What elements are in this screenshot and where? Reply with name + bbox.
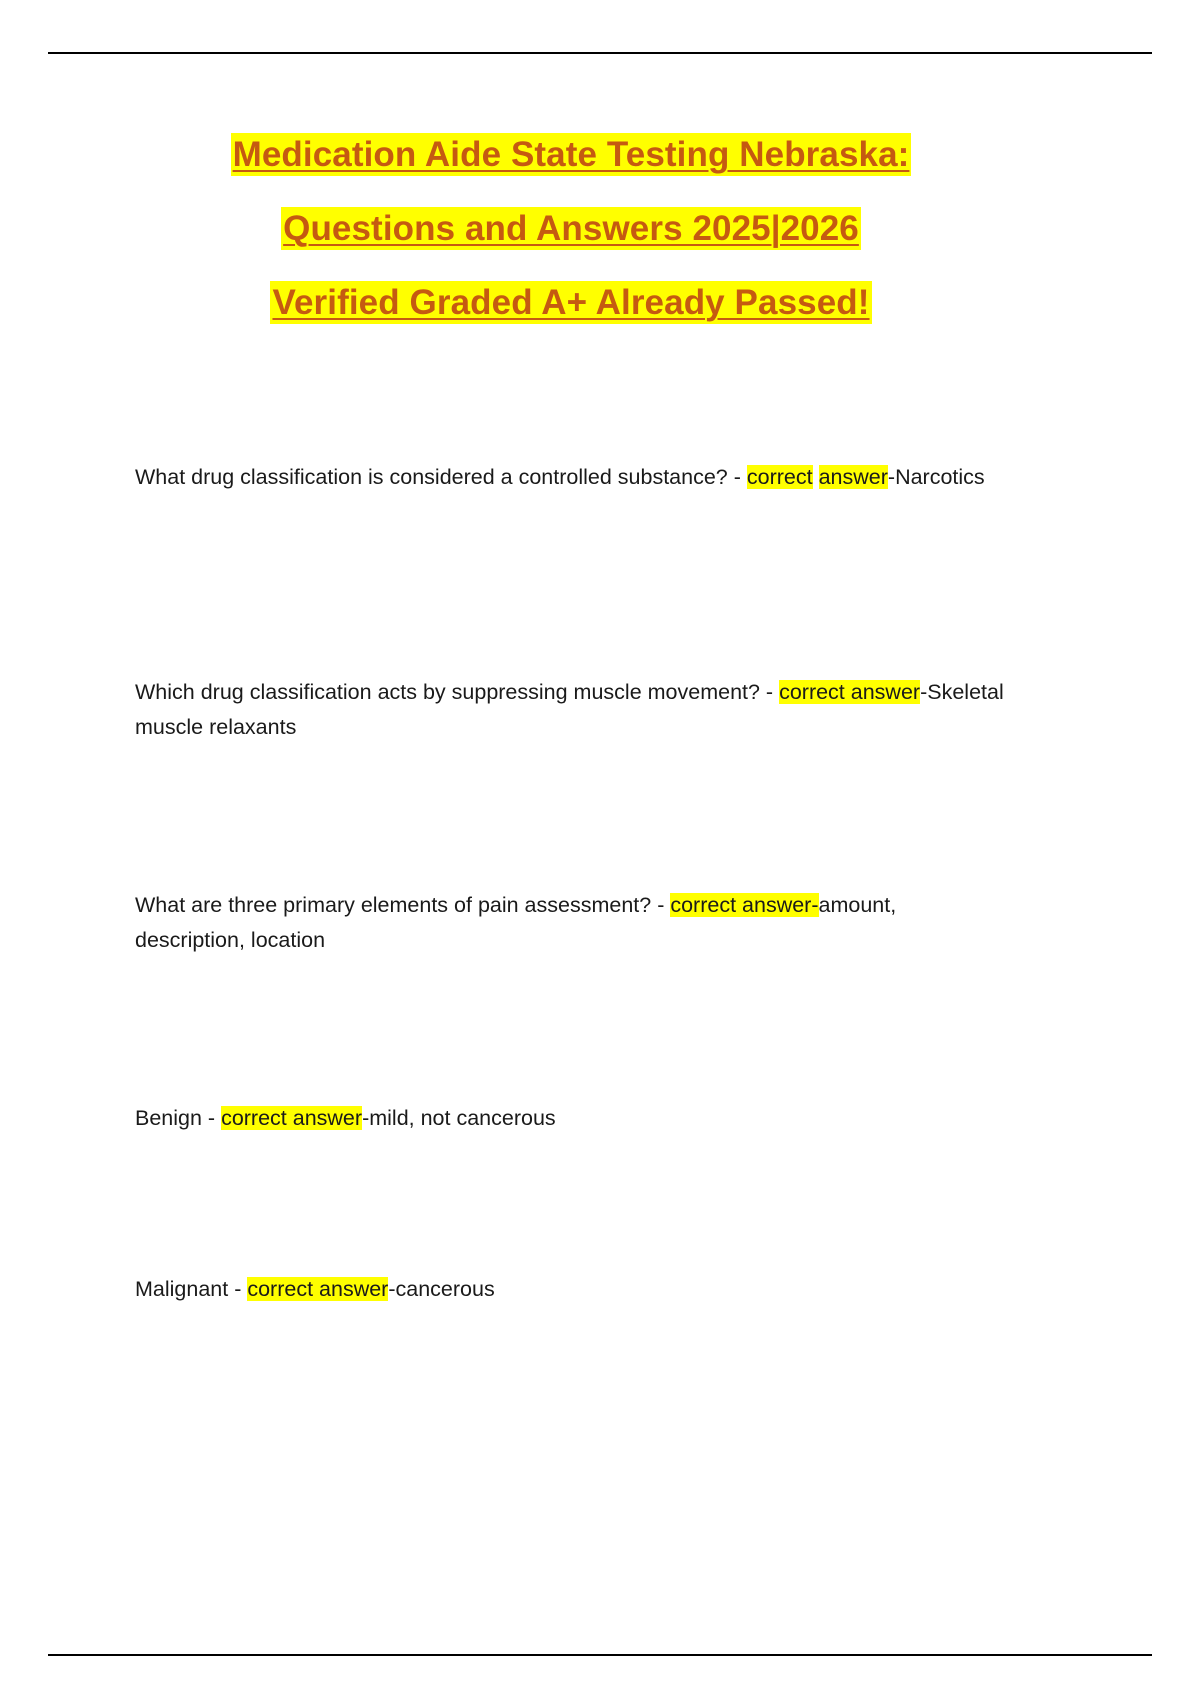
question-text: Malignant - <box>135 1277 247 1301</box>
title-line-1: Medication Aide State Testing Nebraska: <box>135 118 1007 192</box>
qa-item: Benign - correct answer-mild, not cancer… <box>135 1101 1010 1136</box>
title-line-2: Questions and Answers 2025|2026 <box>135 192 1007 266</box>
answer-marker: correct answer- <box>670 893 818 917</box>
document-content: Medication Aide State Testing Nebraska: … <box>135 118 1007 340</box>
question-text: What are three primary elements of pain … <box>135 893 670 917</box>
page-top-rule <box>48 52 1152 54</box>
answer-text: Narcotics <box>895 465 985 489</box>
page-title: Medication Aide State Testing Nebraska: … <box>135 118 1007 340</box>
document-page: Medication Aide State Testing Nebraska: … <box>0 0 1200 1700</box>
answer-marker: correct answer <box>221 1106 362 1130</box>
answer-marker-cont: answer <box>819 465 888 489</box>
answer-marker: correct answer <box>779 680 920 704</box>
question-text: Benign - <box>135 1106 221 1130</box>
question-text: Which drug classification acts by suppre… <box>135 680 779 704</box>
answer-marker: correct <box>747 465 813 489</box>
page-bottom-rule <box>48 1654 1152 1656</box>
title-line-3: Verified Graded A+ Already Passed! <box>135 266 1007 340</box>
answer-marker: correct answer <box>247 1277 388 1301</box>
answer-text: cancerous <box>396 1277 495 1301</box>
qa-item: What are three primary elements of pain … <box>135 888 1010 958</box>
qa-item: What drug classification is considered a… <box>135 460 1010 495</box>
answer-separator: - <box>888 465 895 489</box>
question-text: What drug classification is considered a… <box>135 465 747 489</box>
qa-item: Which drug classification acts by suppre… <box>135 675 1010 745</box>
answer-separator: - <box>388 1277 395 1301</box>
answer-text: mild, not cancerous <box>369 1106 555 1130</box>
qa-item: Malignant - correct answer-cancerous <box>135 1272 1010 1307</box>
